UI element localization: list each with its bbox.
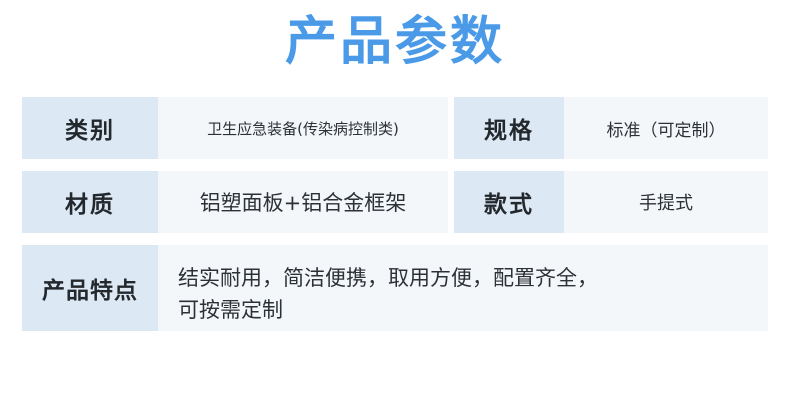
row-value-material: 铝塑面板+铝合金框架: [158, 171, 448, 233]
row-label-category: 类别: [22, 97, 158, 159]
table-row: 产品特点 结实耐用，简洁便携，取用方便，配置齐全， 可按需定制: [22, 245, 768, 331]
row-value-style: 手提式: [564, 171, 768, 233]
features-line-2: 可按需定制: [178, 295, 748, 327]
page-title: 产品参数: [0, 0, 790, 71]
row-value-category: 卫生应急装备(传染病控制类): [158, 97, 448, 159]
row-value-spec: 标准（可定制）: [564, 97, 768, 159]
row-label-features: 产品特点: [22, 245, 158, 331]
table-row: 材质 铝塑面板+铝合金框架 款式 手提式: [22, 171, 768, 233]
table-row: 类别 卫生应急装备(传染病控制类) 规格 标准（可定制）: [22, 97, 768, 159]
row-label-style: 款式: [454, 171, 564, 233]
features-line-1: 结实耐用，简洁便携，取用方便，配置齐全，: [178, 263, 748, 295]
spec-table: 类别 卫生应急装备(传染病控制类) 规格 标准（可定制） 材质 铝塑面板+铝合金…: [22, 97, 768, 331]
product-parameters-page: 产品参数 类别 卫生应急装备(传染病控制类) 规格 标准（可定制） 材质 铝塑面…: [0, 0, 790, 416]
row-value-features: 结实耐用，简洁便携，取用方便，配置齐全， 可按需定制: [158, 245, 768, 331]
row-label-material: 材质: [22, 171, 158, 233]
row-label-spec: 规格: [454, 97, 564, 159]
